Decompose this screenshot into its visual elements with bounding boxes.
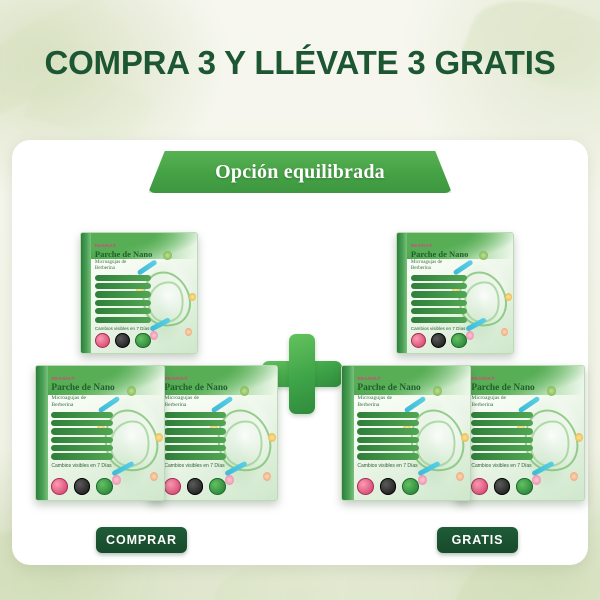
option-banner: Opción equilibrada [148,151,452,193]
product-subtitle-2: Berberina [95,266,151,272]
benefit-pill [471,420,532,426]
brand-logo: REARIA® [411,243,467,248]
benefit-pill [95,275,151,281]
benefit-pill [51,445,112,451]
ingredient-dot [185,328,192,336]
benefit-pill [357,412,418,418]
usa-badge [471,478,488,495]
ingredient-dot [163,251,171,260]
benefit-pill [95,300,151,306]
benefit-pill [95,283,151,289]
certification-badges [411,333,467,348]
usa-badge [164,478,181,495]
benefit-pill [51,437,112,443]
benefit-list [471,412,532,460]
brand-logo: REARIA® [471,377,532,382]
benefit-pill [95,308,151,314]
product-box-front-left-2[interactable]: REARIA® Parche de Nano Microagujas de Be… [148,365,278,501]
benefit-pill [164,412,225,418]
ingredient-dot [547,386,556,396]
benefit-pill [411,291,467,297]
benefit-pill [471,437,532,443]
benefit-pill [411,283,467,289]
ingredient-dot [112,475,121,485]
buy-button[interactable]: COMPRAR [96,527,187,553]
product-claim: Cambios visibles en 7 Días [164,463,225,469]
benefit-pill [471,453,532,459]
ingredient-dot [461,433,469,442]
product-subtitle-2: Berberina [164,402,225,408]
benefit-pill [471,412,532,418]
gmp-badge [516,478,533,495]
box-text-block: REARIA® Parche de Nano Microagujas de Be… [471,377,532,469]
benefit-pill [51,453,112,459]
ingredient-dot [240,386,249,396]
benefit-pill [164,428,225,434]
certification-badges [164,478,225,495]
usa-badge [411,333,426,348]
ingredient-dot [150,331,158,340]
benefit-pill [357,453,418,459]
ingredient-dot [155,433,163,442]
benefit-pill [164,445,225,451]
benefit-pill [357,445,418,451]
product-box-back-left[interactable]: REARIA® Parche de Nano Microagujas de Be… [80,232,198,354]
product-subtitle-2: Berberina [471,402,532,408]
product-claim: Cambios visibles en 7 Días [357,463,418,469]
benefit-pill [51,412,112,418]
certification-badges [51,478,112,495]
ingredient-dot [466,331,474,340]
ingredient-dot [127,386,136,396]
box-spine [342,366,354,500]
fda-badge [74,478,91,495]
usa-badge [357,478,374,495]
promo-headline: COMPRA 3 Y LLÉVATE 3 GRATIS [0,44,600,82]
ingredient-dot [575,433,583,442]
product-claim: Cambios visibles en 7 Días [411,326,467,331]
ingredient-dot [150,472,158,481]
benefit-pill [51,428,112,434]
free-button[interactable]: GRATIS [437,527,518,553]
fda-badge [115,333,130,348]
product-box-front-right-1[interactable]: REARIA® Parche de Nano Microagujas de Be… [341,365,471,501]
ingredient-dot [456,472,464,481]
benefit-pill [471,445,532,451]
product-box-front-left-1[interactable]: REARIA® Parche de Nano Microagujas de Be… [35,365,165,501]
product-title: Parche de Nano [357,384,418,393]
benefit-pill [411,300,467,306]
brand-logo: REARIA® [357,377,418,382]
benefit-pill [95,291,151,297]
benefit-list [164,412,225,460]
ingredient-dot [570,472,578,481]
gmp-badge [451,333,466,348]
benefit-pill [164,437,225,443]
benefit-list [357,412,418,460]
benefit-pill [357,428,418,434]
usa-badge [95,333,110,348]
box-text-block: REARIA® Parche de Nano Microagujas de Be… [357,377,418,469]
product-title: Parche de Nano [51,384,112,393]
benefit-pill [411,308,467,314]
product-claim: Cambios visibles en 7 Días [471,463,532,469]
gmp-badge [96,478,113,495]
product-title: Parche de Nano [411,250,467,259]
ingredient-dot [268,433,276,442]
benefit-list [51,412,112,460]
ingredient-dot [263,472,271,481]
certification-badges [95,333,151,348]
ingredient-dot [189,293,196,301]
benefit-pill [357,437,418,443]
product-claim: Cambios visibles en 7 Días [95,326,151,331]
product-subtitle-2: Berberina [357,402,418,408]
benefit-pill [471,428,532,434]
box-text-block: REARIA® Parche de Nano Microagujas de Be… [411,243,467,331]
certification-badges [471,478,532,495]
product-title: Parche de Nano [95,250,151,259]
benefit-pill [95,317,151,323]
benefit-pill [164,453,225,459]
box-text-block: REARIA® Parche de Nano Microagujas de Be… [95,243,151,331]
box-spine [397,233,407,353]
fda-badge [187,478,204,495]
product-title: Parche de Nano [164,384,225,393]
benefit-list [95,275,151,323]
ingredient-dot [501,328,508,336]
ingredient-dot [505,293,512,301]
brand-logo: REARIA® [164,377,225,382]
box-text-block: REARIA® Parche de Nano Microagujas de Be… [164,377,225,469]
gmp-badge [402,478,419,495]
certification-badges [357,478,418,495]
fda-badge [431,333,446,348]
product-subtitle-2: Berberina [51,402,112,408]
box-text-block: REARIA® Parche de Nano Microagujas de Be… [51,377,112,469]
option-banner-label: Opción equilibrada [215,161,385,184]
fda-badge [494,478,511,495]
fda-badge [380,478,397,495]
box-spine [81,233,91,353]
ingredient-dot [418,475,427,485]
benefit-pill [51,420,112,426]
product-box-front-right-2[interactable]: REARIA® Parche de Nano Microagujas de Be… [455,365,585,501]
benefit-pill [357,420,418,426]
product-title: Parche de Nano [471,384,532,393]
ingredient-dot [225,475,234,485]
plus-icon-vertical [289,334,315,414]
product-subtitle-2: Berberina [411,266,467,272]
ingredient-dot [479,251,487,260]
ingredient-dot [433,386,442,396]
brand-logo: REARIA® [51,377,112,382]
gmp-badge [209,478,226,495]
ingredient-dot [532,475,541,485]
benefit-list [411,275,467,323]
benefit-pill [164,420,225,426]
box-spine [36,366,48,500]
benefit-pill [411,275,467,281]
product-claim: Cambios visibles en 7 Días [51,463,112,469]
benefit-pill [411,317,467,323]
usa-badge [51,478,68,495]
brand-logo: REARIA® [95,243,151,248]
promo-stage: COMPRA 3 Y LLÉVATE 3 GRATIS Opción equil… [0,0,600,600]
product-box-back-right[interactable]: REARIA® Parche de Nano Microagujas de Be… [396,232,514,354]
gmp-badge [135,333,150,348]
